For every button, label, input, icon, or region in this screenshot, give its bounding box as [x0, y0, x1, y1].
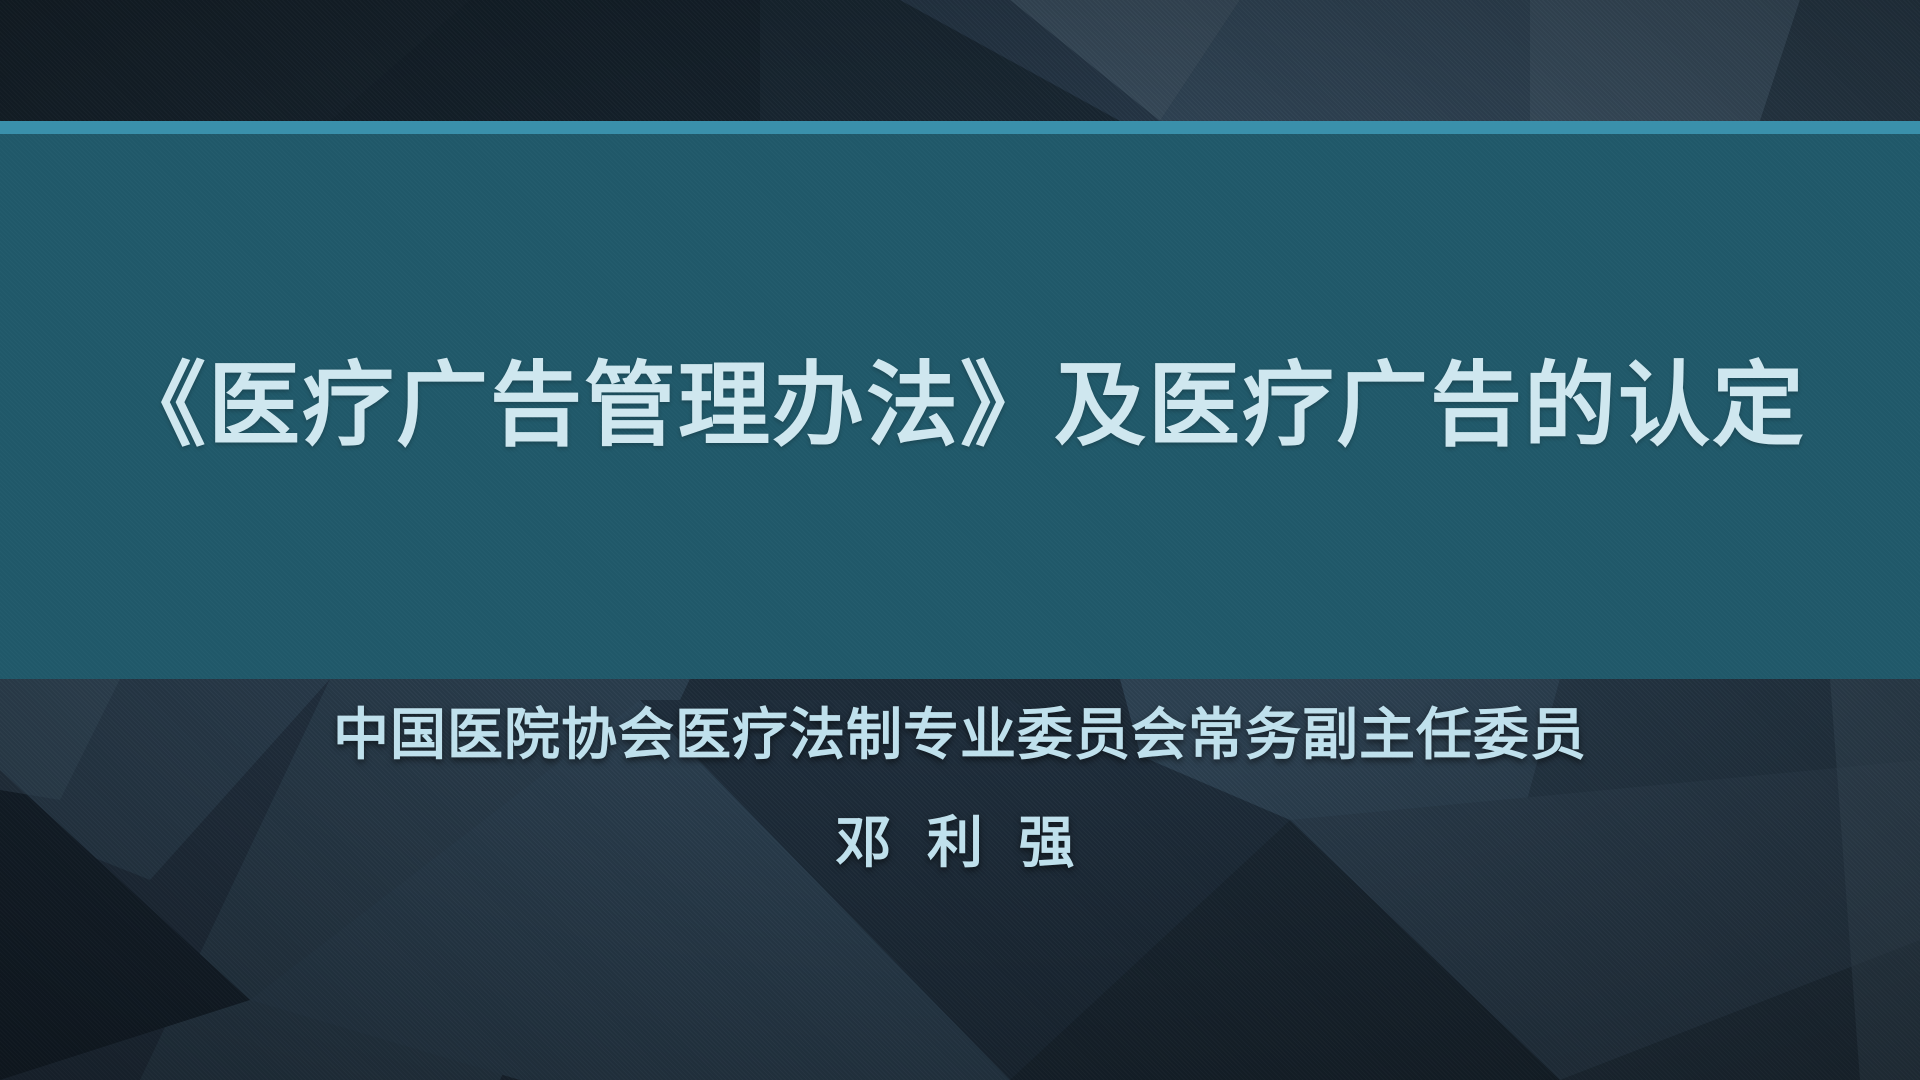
- slide-title: 《医疗广告管理办法》及医疗广告的认定: [114, 351, 1806, 461]
- presenter-block: 中国医院协会医疗法制专业委员会常务副主任委员 邓 利 强: [0, 700, 1920, 878]
- presenter-name: 邓 利 强: [0, 808, 1920, 878]
- affiliation-text: 中国医院协会医疗法制专业委员会常务副主任委员: [0, 700, 1920, 770]
- presentation-slide: 《医疗广告管理办法》及医疗广告的认定 中国医院协会医疗法制专业委员会常务副主任委…: [0, 0, 1920, 1080]
- accent-bar: [0, 121, 1920, 134]
- title-panel: 《医疗广告管理办法》及医疗广告的认定: [0, 134, 1920, 679]
